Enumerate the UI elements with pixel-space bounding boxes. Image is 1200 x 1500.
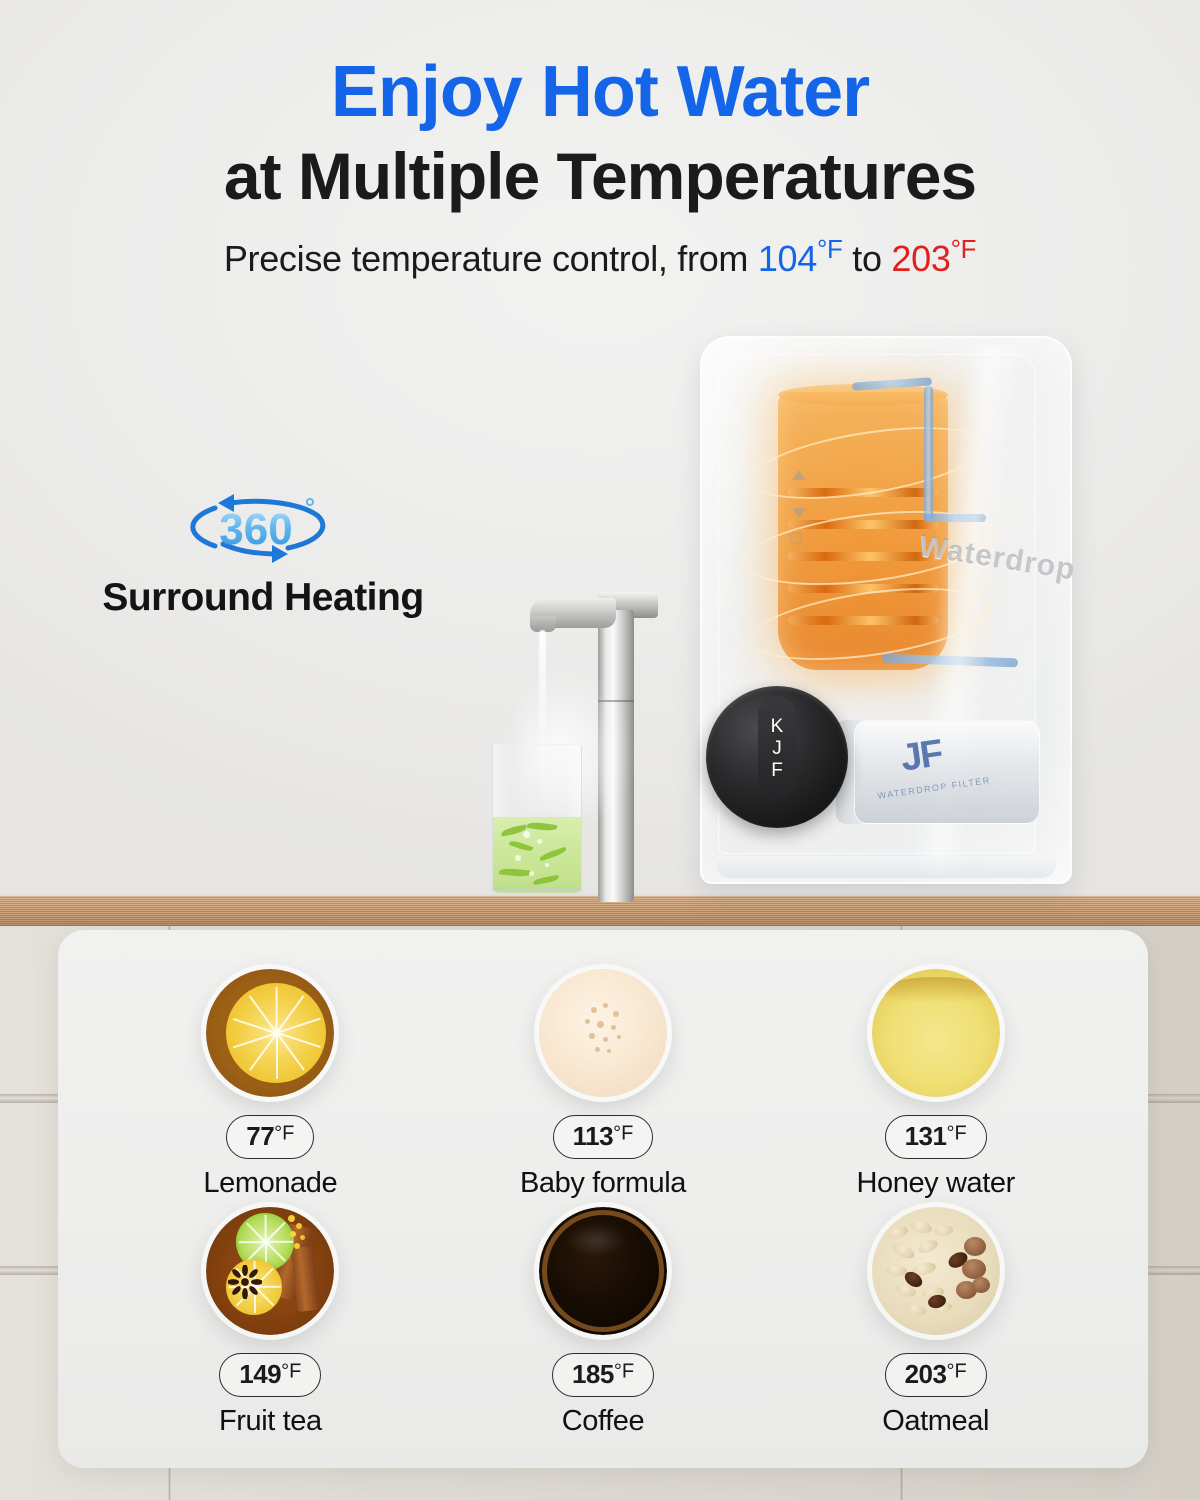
temperature-unit: °F [613,1122,633,1144]
temperature-badge: 77°F [226,1115,314,1159]
surround-heating-label: Surround Heating [68,576,458,620]
up-arrow-icon [792,470,806,480]
headline-primary: Enjoy Hot Water [0,0,1200,133]
water-dispenser-product: Waterdrop JF WATERDROP FILTER K J F [686,336,1086,896]
beverage-label: Oatmeal [882,1405,989,1438]
drinking-glass [492,744,582,894]
beverage-item: 131°F Honey water [769,964,1102,1202]
dial-mark-j: J [772,739,782,758]
temperature-control-dial[interactable]: K J F [706,686,848,828]
cup-glass [534,964,672,1102]
temp-low-value: 104 [758,238,817,279]
temperature-value: 203 [905,1359,947,1389]
temperature-unit: °F [946,1122,966,1144]
headline-secondary: at Multiple Temperatures [0,139,1200,214]
temperature-badge: 203°F [885,1353,987,1397]
temperature-badge: 185°F [552,1353,654,1397]
temp-high-value: 203 [891,238,950,279]
beverage-label: Fruit tea [219,1405,322,1438]
housing-base [716,856,1056,878]
header: Enjoy Hot Water at Multiple Temperatures… [0,0,1200,280]
green-tea-liquid [493,817,581,893]
filter-sublabel: WATERDROP FILTER [877,775,991,801]
star-anise-icon [228,1265,262,1299]
temp-high-unit: °F [951,236,977,264]
beverage-label: Baby formula [520,1167,686,1200]
temperature-unit: °F [946,1360,966,1382]
beverage-label: Honey water [856,1167,1014,1200]
water-filter-cartridge: JF WATERDROP FILTER [854,720,1040,824]
temperature-value: 131 [905,1121,947,1151]
honey-water-cup-icon [867,964,1005,1102]
temperature-unit: °F [281,1360,301,1382]
lemon-slice-icon [226,983,326,1083]
nut-icon [962,1259,986,1279]
360-number: 360 [219,505,292,554]
temperature-badge: 113°F [553,1115,654,1159]
subheadline-mid: to [843,238,892,279]
temp-low-unit: °F [817,236,843,264]
coffee-cup-icon [534,1202,672,1340]
360-rotation-icon: 360 ° [168,486,358,568]
down-arrow-icon [792,508,806,518]
cup-glass [867,1202,1005,1340]
filter-logo: JF [898,732,944,780]
cup-glass [534,1202,672,1340]
cup-glass [201,1202,339,1340]
water-tube [924,386,933,522]
nut-icon [972,1277,990,1293]
beverage-item: 77°F Lemonade [104,964,437,1202]
glass-base [492,888,582,894]
dial-mark-f: F [771,761,783,780]
temperature-value: 185 [572,1359,614,1389]
beverage-grid: 77°F Lemonade [58,930,1148,1468]
temperature-badge: 131°F [885,1115,987,1159]
dial-mark-k: K [771,717,784,736]
temperature-value: 77 [246,1121,274,1151]
beverage-item: 113°F Baby formula [437,964,770,1202]
subheadline-prefix: Precise temperature control, from [224,238,758,279]
baby-formula-cup-icon [534,964,672,1102]
temperature-unit: °F [614,1360,634,1382]
cup-glass [201,964,339,1102]
degree-symbol: ° [305,492,315,522]
water-faucet-assembly [506,572,686,902]
cup-liquid [539,969,667,1097]
beverage-temperature-card: 77°F Lemonade [58,930,1148,1468]
indicator-icon [790,532,802,544]
beverage-label: Coffee [562,1405,645,1438]
lemonade-cup-icon [201,964,339,1102]
beverage-item: 185°F Coffee [437,1202,770,1440]
surround-heating-badge: 360 ° Surround Heating [68,486,458,620]
subheadline: Precise temperature control, from 104°F … [0,236,1200,280]
temperature-unit: °F [274,1122,294,1144]
beverage-item: 203°F Oatmeal [769,1202,1102,1440]
beverage-label: Lemonade [203,1167,337,1200]
temperature-badge: 149°F [219,1353,321,1397]
nut-icon [964,1237,986,1256]
temperature-value: 149 [239,1359,281,1389]
temperature-value: 113 [573,1121,613,1151]
beverage-item: 149°F Fruit tea [104,1202,437,1440]
dial-pointer: K J F [758,696,796,800]
oatmeal-bowl-icon [867,1202,1005,1340]
fruit-tea-cup-icon [201,1202,339,1340]
cup-glass [867,964,1005,1102]
